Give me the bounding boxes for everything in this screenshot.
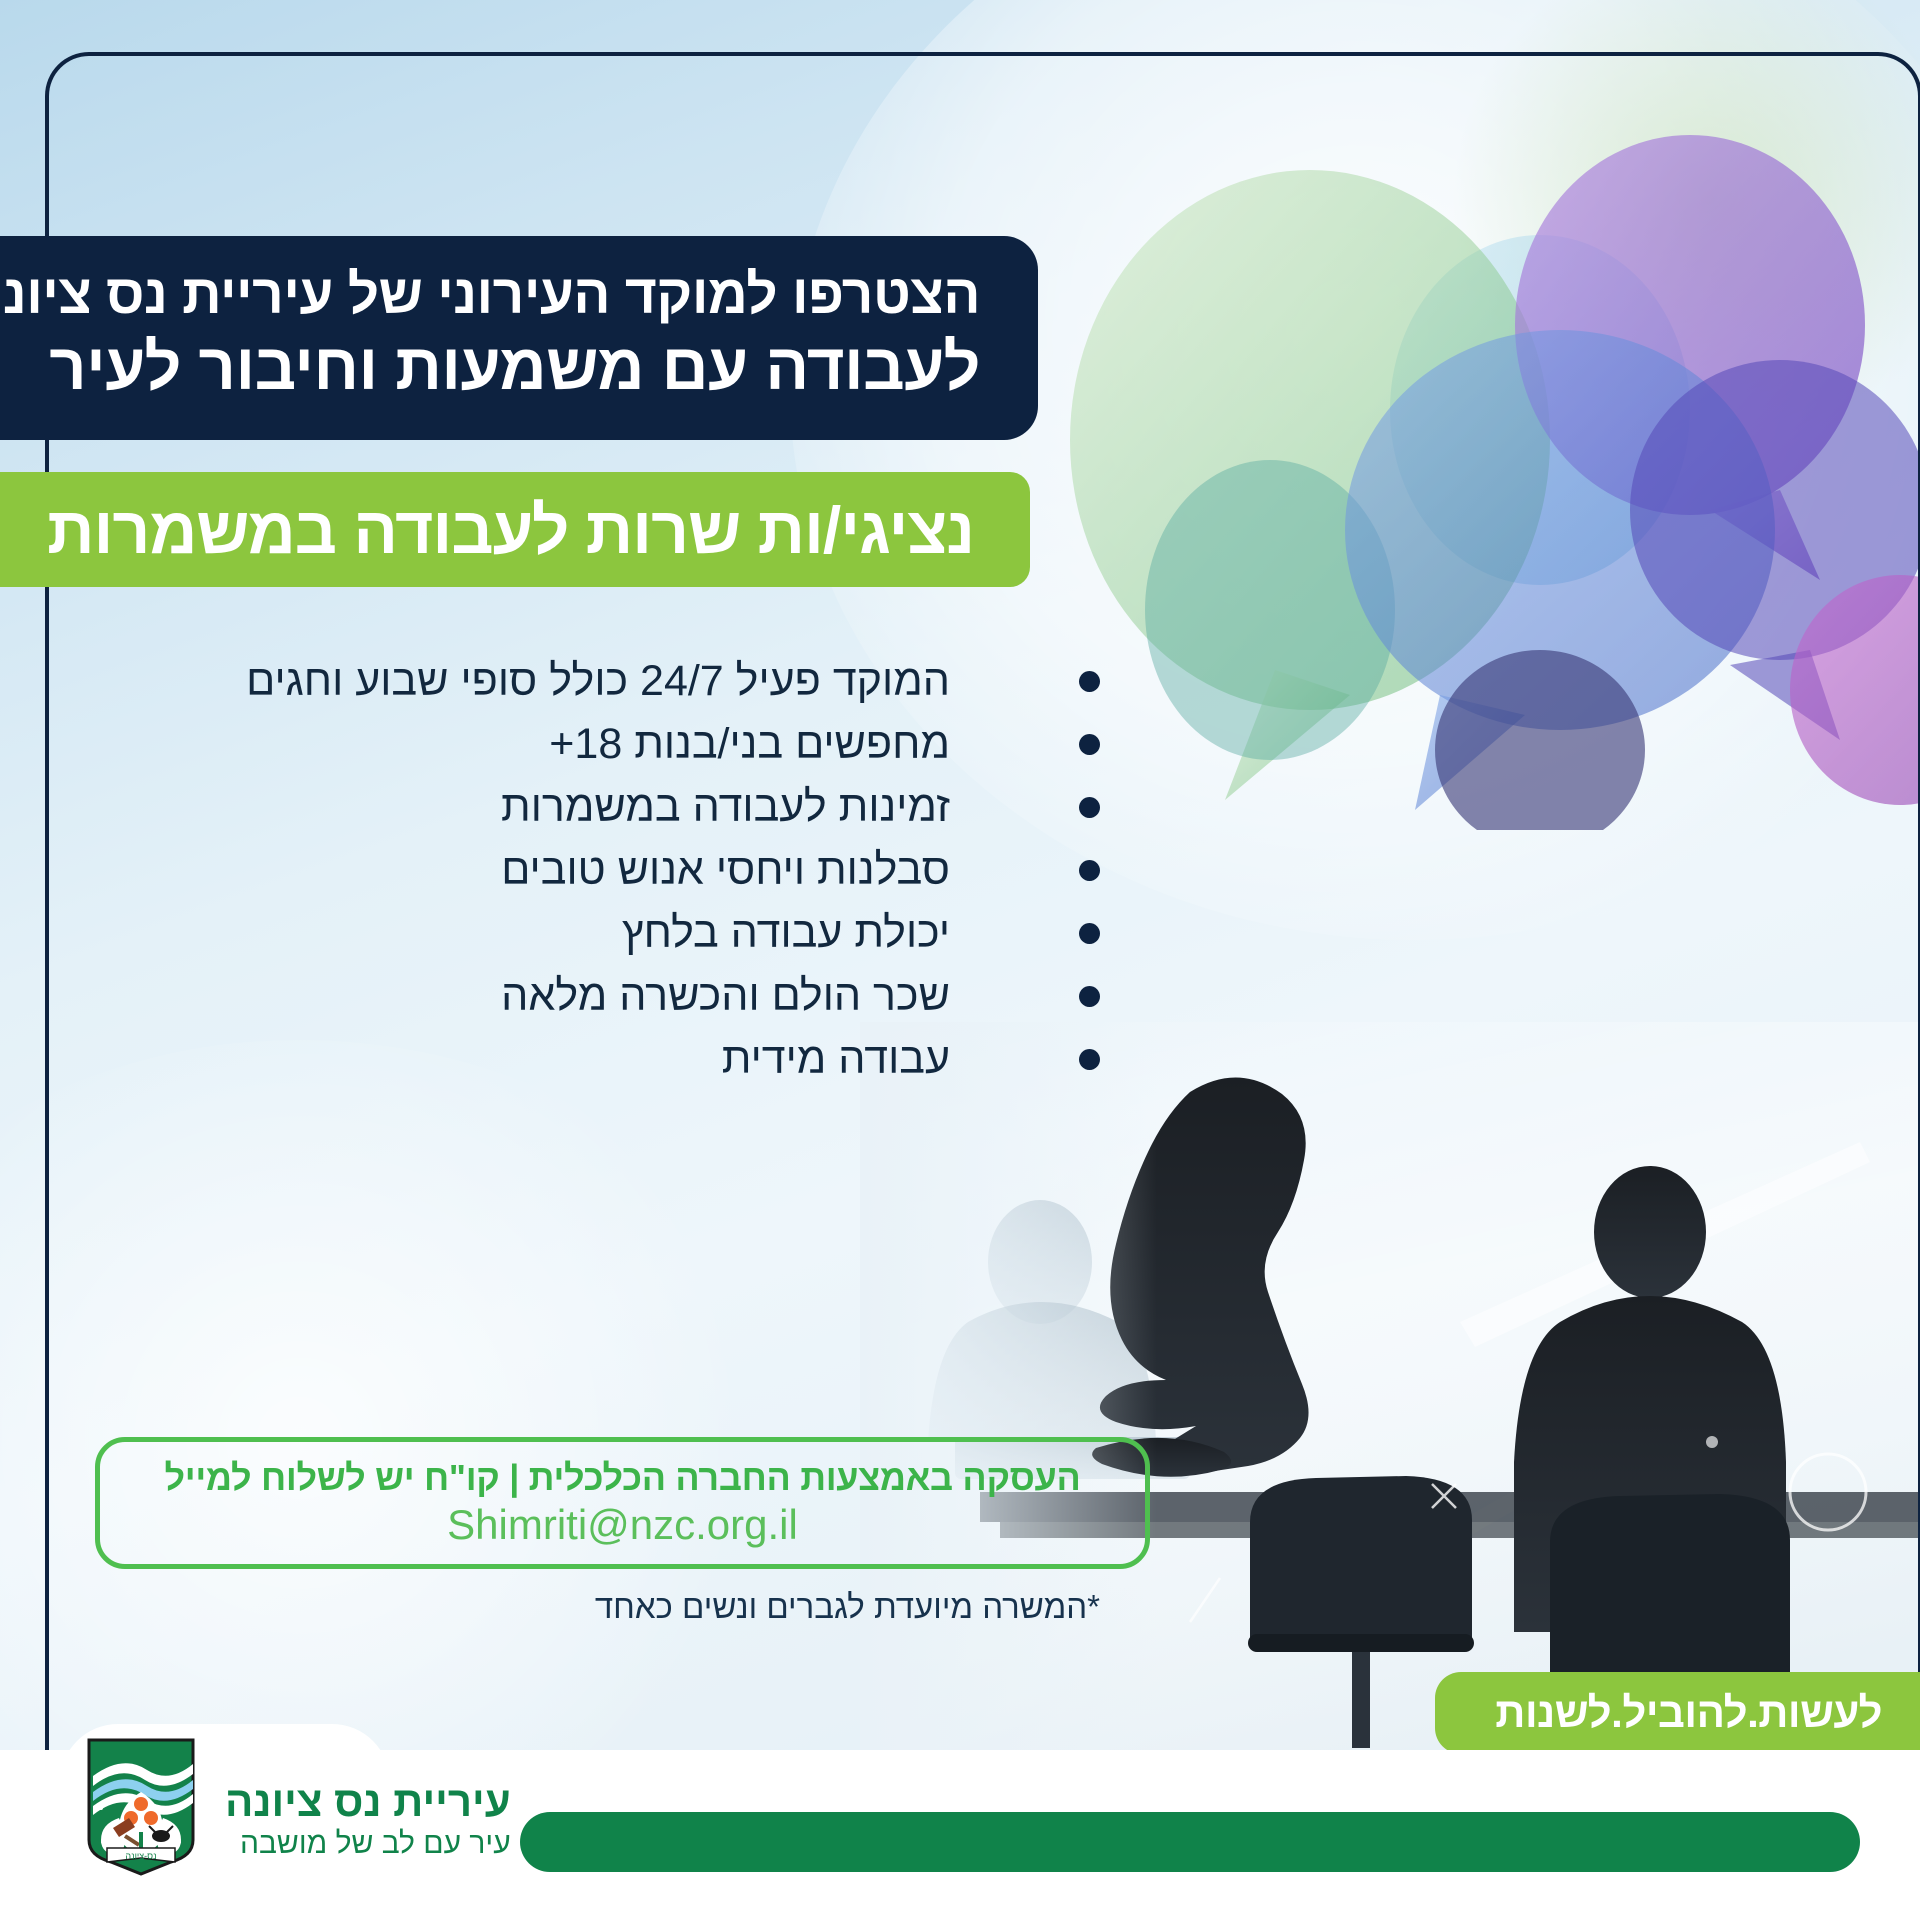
bullet-dot-icon [1079, 986, 1100, 1007]
contact-email-link[interactable]: Shimriti@nzc.org.il [447, 1501, 798, 1549]
list-item-label: יכולת עבודה בלחץ [622, 912, 950, 955]
bullet-dot-icon [1079, 734, 1100, 755]
list-item-label: סבלנות ויחסי אנוש טובים [501, 849, 950, 892]
municipality-wordmark: עיריית נס ציונה עיר עם לב של מושבה [225, 1780, 511, 1862]
poster-canvas: הצטרפו למוקד העירוני של עיריית נס ציונה … [0, 0, 1920, 1920]
municipality-crest-icon: נס-ציונה [85, 1736, 197, 1878]
bullet-dot-icon [1079, 1049, 1100, 1070]
motto-label: לעשות.להוביל.לשנות [1495, 1689, 1882, 1737]
list-item-label: זמינות לעבודה במשמרות [501, 786, 950, 829]
footer-green-bar [520, 1812, 1860, 1872]
equal-opportunity-footnote: *המשרה מיועדת לגברים ונשים כאחד [595, 1588, 1100, 1626]
motto-pill: לעשות.להוביל.לשנות [1435, 1672, 1920, 1754]
list-item-label: עבודה מידית [722, 1038, 950, 1081]
headline-line-1: הצטרפו למוקד העירוני של עיריית נס ציונה [58, 262, 980, 327]
headline-block: הצטרפו למוקד העירוני של עיריית נס ציונה … [0, 236, 1038, 440]
list-item-label: מחפשים בני/בנות 18+ [549, 723, 950, 766]
role-banner-label: נציגי/ות שרות לעבודה במשמרות [47, 492, 974, 568]
org-name: עיריית נס ציונה [225, 1780, 511, 1824]
contact-box: העסקה באמצעות החברה הכלכלית | קו"ח יש לש… [95, 1437, 1150, 1569]
role-banner: נציגי/ות שרות לעבודה במשמרות [0, 472, 1030, 587]
list-item-label: שכר הולם והכשרה מלאה [501, 975, 950, 1018]
crest-ribbon-label: נס-ציונה [125, 1851, 156, 1861]
footer-content: נס-ציונה עיריית נס ציונה עיר עם לב של מו… [0, 1750, 1920, 1920]
bullet-dot-icon [1079, 671, 1100, 692]
headline-line-2: לעבודה עם משמעות וחיבור לעיר [58, 329, 980, 406]
bullet-dot-icon [1079, 797, 1100, 818]
bullet-dot-icon [1079, 860, 1100, 881]
bullet-dot-icon [1079, 923, 1100, 944]
org-tagline: עיר עם לב של מושבה [225, 1826, 511, 1862]
contact-instruction: העסקה באמצעות החברה הכלכלית | קו"ח יש לש… [164, 1457, 1080, 1499]
speech-bubbles-decoration [1020, 110, 1920, 830]
list-item-label: המוקד פעיל 24/7 כולל סופי שבוע וחגים [246, 660, 950, 703]
